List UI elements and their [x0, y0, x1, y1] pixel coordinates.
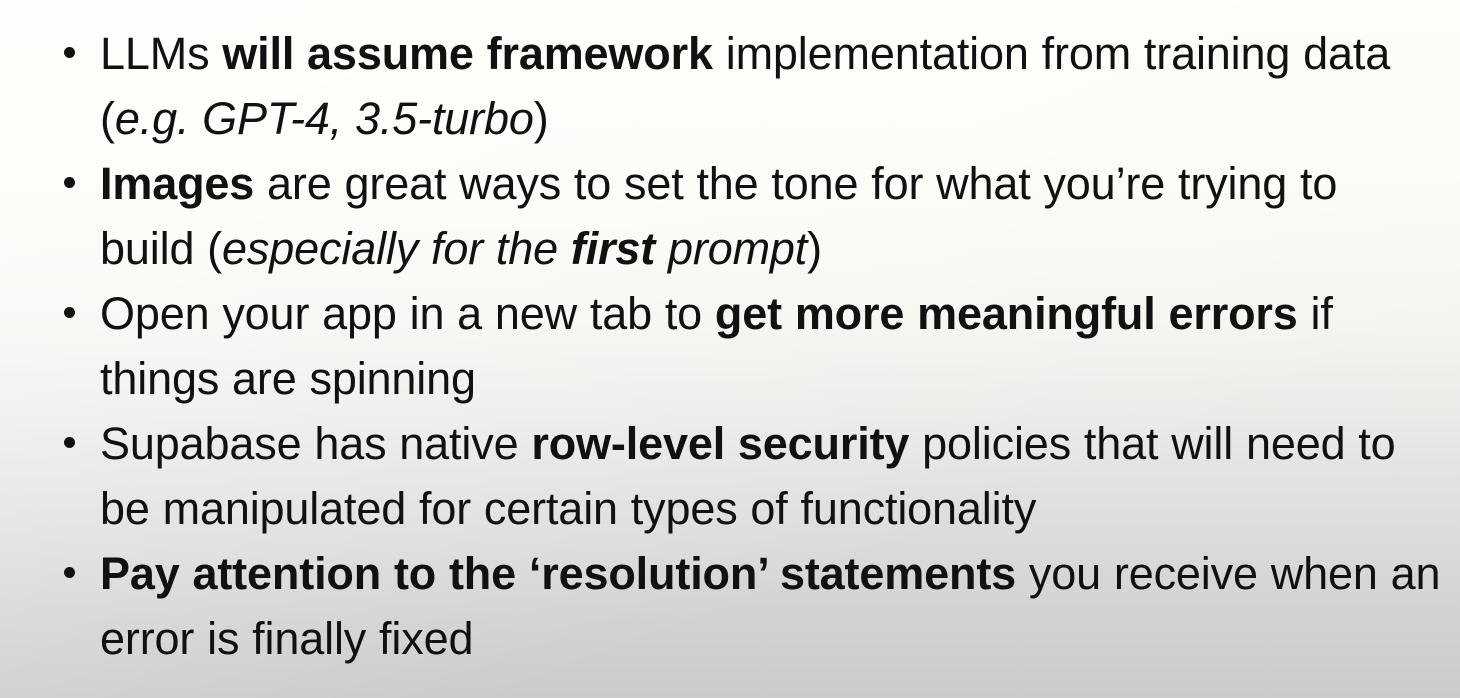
- list-item: Images are great ways to set the tone fo…: [0, 151, 1460, 281]
- list-item: LLMs will assume framework implementatio…: [0, 21, 1460, 151]
- bullet-text: Supabase has native row-level security p…: [100, 418, 1396, 534]
- bullet-point-icon: [64, 567, 75, 578]
- bullet-text: Pay attention to the ‘resolution’ statem…: [100, 548, 1440, 664]
- list-item: Open your app in a new tab to get more m…: [0, 281, 1460, 411]
- slide-canvas: LLMs will assume framework implementatio…: [0, 0, 1460, 698]
- bullet-text: Open your app in a new tab to get more m…: [100, 288, 1333, 404]
- list-item: Supabase has native row-level security p…: [0, 411, 1460, 541]
- bullet-point-icon: [64, 47, 75, 58]
- bullet-text: Images are great ways to set the tone fo…: [100, 158, 1337, 274]
- bullet-point-icon: [64, 307, 75, 318]
- bullet-list: LLMs will assume framework implementatio…: [0, 21, 1460, 671]
- bullet-text: LLMs will assume framework implementatio…: [100, 28, 1390, 144]
- bullet-point-icon: [64, 437, 75, 448]
- bullet-point-icon: [64, 177, 75, 188]
- list-item: Pay attention to the ‘resolution’ statem…: [0, 541, 1460, 671]
